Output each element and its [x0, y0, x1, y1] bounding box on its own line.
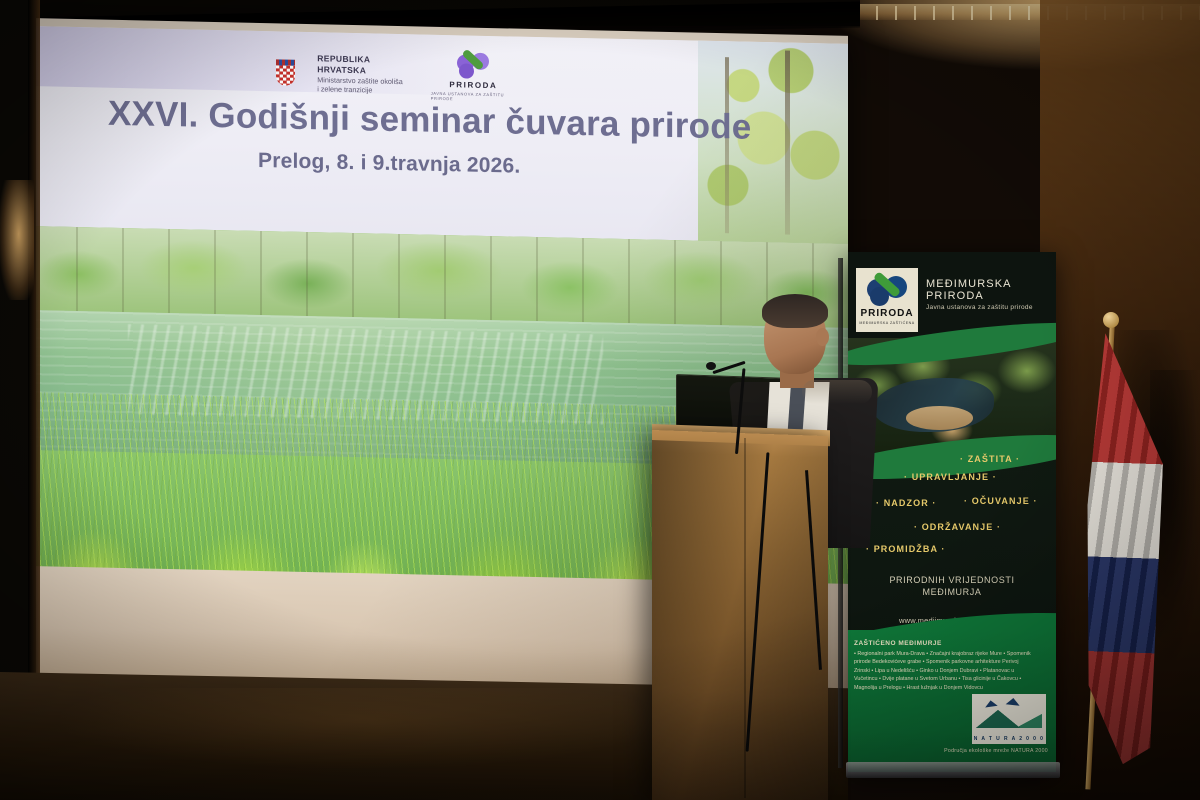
banner-priroda-mark-icon [867, 276, 907, 306]
banner-base-stand [846, 762, 1060, 778]
banner-sandbar [906, 406, 973, 430]
banner-tagline-line-1: PRIRODNIH VRIJEDNOSTI [848, 574, 1056, 586]
natura-logo-label: N A T U R A 2 0 0 0 [974, 736, 1045, 742]
banner-tagline: PRIRODNIH VRIJEDNOSTI MEĐIMURJA [848, 574, 1056, 598]
banner-keyword-list: · ZAŠTITA · · UPRAVLJANJE · · NADZOR · ·… [848, 452, 1056, 582]
speaker-ear [816, 328, 829, 346]
rollup-banner: PRIRODA MEĐIMURSKA ZAŠTIĆENA MEĐIMURSKA … [848, 252, 1056, 772]
left-wall-lamp-glow [0, 180, 34, 300]
podium-shading [652, 440, 828, 800]
coa-chequy [276, 65, 295, 85]
speaker-hair [762, 294, 828, 328]
natura-mountains-icon [976, 710, 1042, 728]
natura-caption: Područja ekološke mreže NATURA 2000 [944, 748, 1048, 754]
banner-subtitle: Javna ustanova za zaštitu prirode [926, 304, 1056, 311]
natura-birds-icon [982, 698, 1038, 710]
banner-protected-list: • Regionalni park Mura-Drava • Značajni … [854, 650, 1034, 692]
banner-keyword-ocuvanje: · OČUVANJE · [964, 496, 1038, 506]
priroda-logo: PRIRODA JAVNA USTANOVA ZA ZAŠTITU PRIROD… [431, 51, 516, 102]
banner-keyword-odrzavanje: · ODRŽAVANJE · [914, 522, 1001, 532]
stage-floor-glow [60, 688, 660, 768]
banner-keyword-zastita: · ZAŠTITA · [960, 454, 1020, 464]
slide-logo-row: REPUBLIKA HRVATSKA Ministarstvo zaštite … [276, 43, 516, 106]
slide-header-band: REPUBLIKA HRVATSKA Ministarstvo zaštite … [30, 26, 848, 244]
speaker-shoulder-highlight [802, 380, 872, 404]
microphone-head-icon [706, 362, 716, 370]
ministry-text: REPUBLIKA HRVATSKA Ministarstvo zaštite … [317, 53, 408, 95]
banner-keyword-promidzba: · PROMIDŽBA · [866, 544, 945, 554]
slide-title: XXVI. Godišnji seminar čuvara prirode [108, 94, 748, 148]
banner-keyword-upravljanje: · UPRAVLJANJE · [904, 472, 997, 482]
ministry-line-1: REPUBLIKA HRVATSKA [317, 53, 408, 77]
banner-title: MEĐIMURSKA PRIRODA [926, 278, 1056, 302]
priroda-logo-name: PRIRODA [449, 80, 497, 90]
flag-finial [1103, 312, 1119, 328]
conference-stage-scene: REPUBLIKA HRVATSKA Ministarstvo zaštite … [0, 0, 1200, 800]
banner-keyword-nadzor: · NADZOR · [876, 498, 937, 508]
slide-subtitle: Prelog, 8. i 9.travnja 2026. [258, 149, 520, 179]
priroda-mark-icon [457, 52, 489, 79]
banner-title-block: MEĐIMURSKA PRIRODA Javna ustanova za zaš… [926, 278, 1056, 311]
croatian-coat-of-arms-icon [276, 59, 295, 85]
banner-tagline-line-2: MEĐIMURJA [848, 586, 1056, 598]
natura-2000-logo: N A T U R A 2 0 0 0 [972, 694, 1046, 744]
banner-protected-heading: ZAŠTIĆENO MEĐIMURJE [854, 640, 942, 647]
